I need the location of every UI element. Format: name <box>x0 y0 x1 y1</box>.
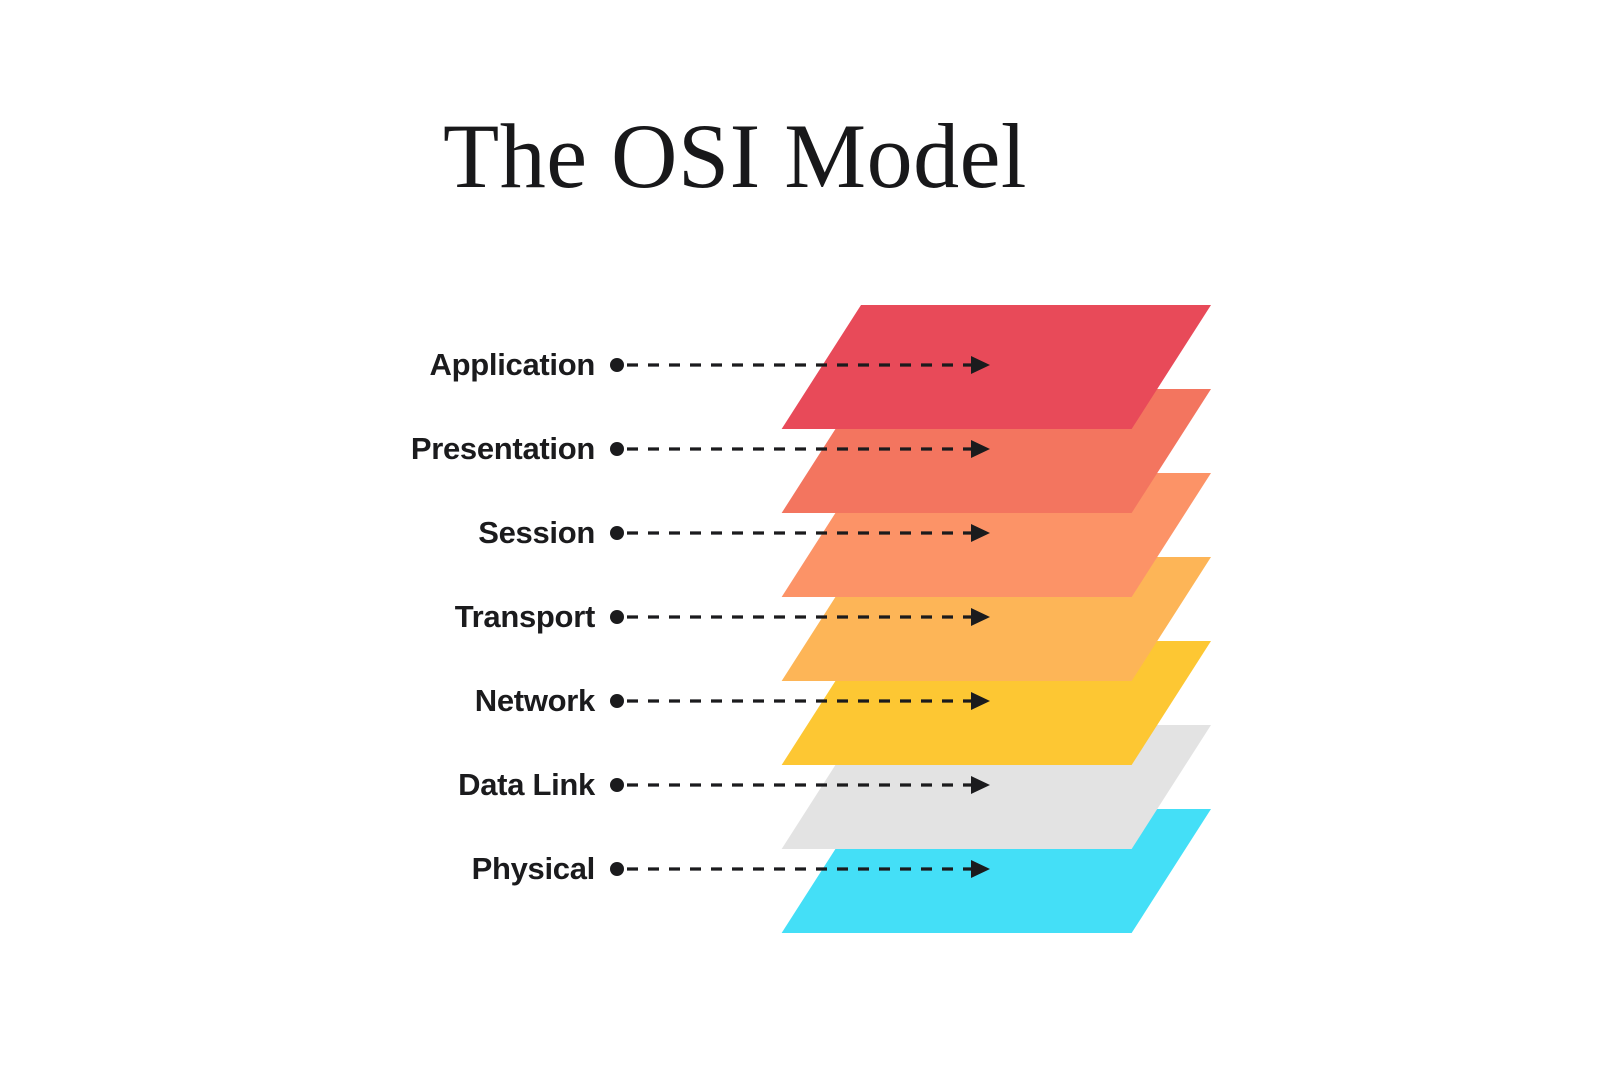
connector-arrow-physical <box>605 849 1000 889</box>
arrow-head-icon <box>971 608 990 626</box>
bullet-dot-icon <box>610 610 624 624</box>
layer-label-physical: Physical <box>160 849 595 889</box>
layer-label-data-link: Data Link <box>160 765 595 805</box>
layer-row-physical[interactable]: Physical <box>0 849 1600 889</box>
arrow-head-icon <box>971 440 990 458</box>
connector-arrow-data-link <box>605 765 1000 805</box>
bullet-dot-icon <box>610 526 624 540</box>
layer-label-transport: Transport <box>160 597 595 637</box>
bullet-dot-icon <box>610 694 624 708</box>
connector-arrow-transport <box>605 597 1000 637</box>
layer-label-network: Network <box>160 681 595 721</box>
bullet-dot-icon <box>610 862 624 876</box>
layer-row-application[interactable]: Application <box>0 345 1600 385</box>
layer-label-application: Application <box>160 345 595 385</box>
layer-label-presentation: Presentation <box>160 429 595 469</box>
bullet-dot-icon <box>610 358 624 372</box>
arrow-head-icon <box>971 356 990 374</box>
connector-arrow-session <box>605 513 1000 553</box>
arrow-head-icon <box>971 524 990 542</box>
bullet-dot-icon <box>610 778 624 792</box>
arrow-head-icon <box>971 860 990 878</box>
layer-row-presentation[interactable]: Presentation <box>0 429 1600 469</box>
layer-row-network[interactable]: Network <box>0 681 1600 721</box>
connector-arrow-presentation <box>605 429 1000 469</box>
connector-arrow-network <box>605 681 1000 721</box>
osi-layer-stack: Application Presentation Session <box>0 0 1600 1067</box>
connector-arrow-application <box>605 345 1000 385</box>
layer-row-session[interactable]: Session <box>0 513 1600 553</box>
layer-row-data-link[interactable]: Data Link <box>0 765 1600 805</box>
bullet-dot-icon <box>610 442 624 456</box>
layer-label-session: Session <box>160 513 595 553</box>
arrow-head-icon <box>971 692 990 710</box>
arrow-head-icon <box>971 776 990 794</box>
layer-row-transport[interactable]: Transport <box>0 597 1600 637</box>
diagram-canvas: The OSI Model <box>0 0 1600 1067</box>
